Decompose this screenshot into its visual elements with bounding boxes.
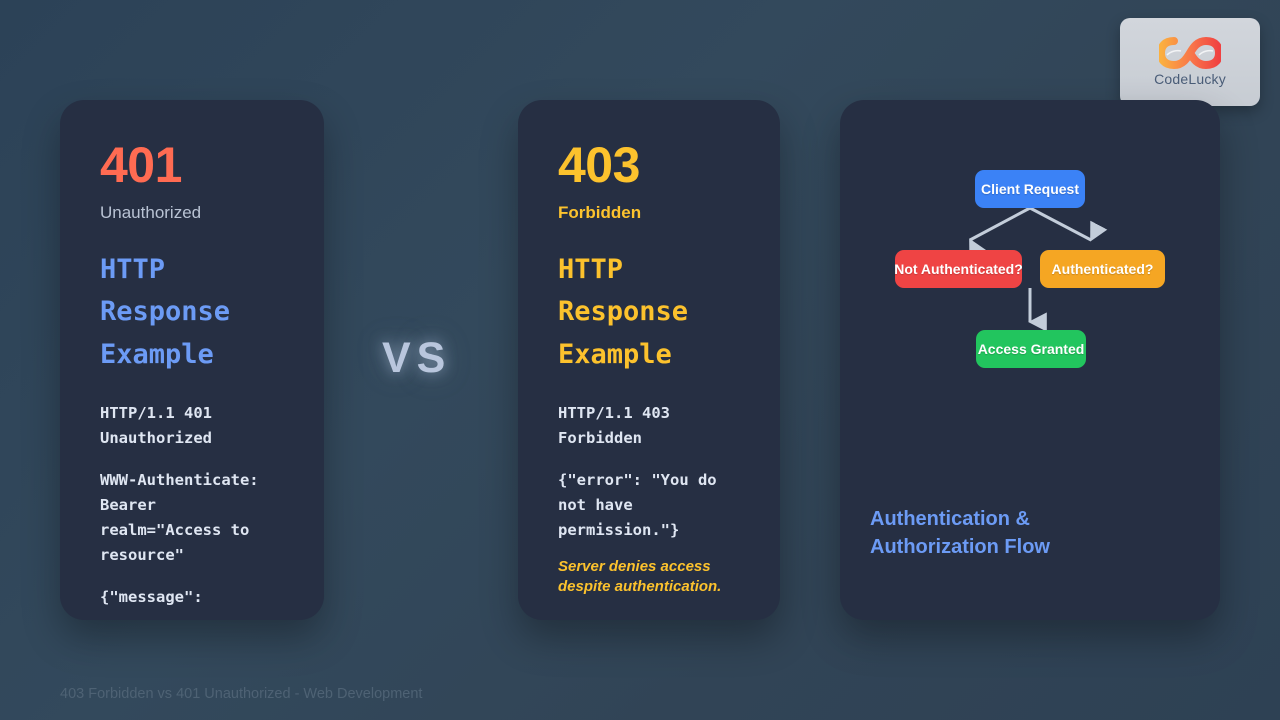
infinity-leaf-icon — [1159, 37, 1221, 69]
brand-logo-badge: CodeLucky — [1120, 18, 1260, 106]
flow-node-client-request[interactable]: Client Request — [975, 170, 1085, 208]
code-line: HTTP/1.1 403 Forbidden — [558, 401, 740, 451]
flow-node-label: Access Granted — [978, 341, 1085, 357]
code-line: WWW-Authenticate: Bearer realm="Access t… — [100, 468, 284, 568]
forbidden-note: Server denies access despite authenticat… — [558, 557, 740, 596]
code-line: HTTP/1.1 401 Unauthorized — [100, 401, 284, 451]
flow-node-not-authenticated[interactable]: Not Authenticated? — [895, 250, 1022, 288]
status-code-403: 403 — [558, 140, 740, 190]
card-heading-401: HTTP Response Example — [100, 249, 284, 377]
flow-caption: Authentication & Authorization Flow — [870, 505, 1050, 561]
card-403-forbidden: 403 Forbidden HTTP Response Example HTTP… — [518, 100, 780, 620]
card-heading-403: HTTP Response Example — [558, 249, 740, 377]
card-401-unauthorized: 401 Unauthorized HTTP Response Example H… — [60, 100, 324, 620]
footer-caption: 403 Forbidden vs 401 Unauthorized - Web … — [60, 686, 422, 702]
code-line: {"error": "You do not have permission."} — [558, 468, 740, 543]
flow-node-authenticated[interactable]: Authenticated? — [1040, 250, 1165, 288]
flow-node-label: Authenticated? — [1052, 261, 1154, 277]
code-line: {"message": — [100, 585, 284, 610]
flow-node-label: Client Request — [981, 181, 1079, 197]
status-phrase-403: Forbidden — [558, 204, 740, 223]
flow-node-label: Not Authenticated? — [894, 261, 1023, 277]
brand-name: CodeLucky — [1154, 71, 1226, 87]
versus-label: VS — [382, 334, 451, 383]
flow-node-access-granted[interactable]: Access Granted — [976, 330, 1086, 368]
card-auth-flow: Client Request Not Authenticated? Authen… — [840, 100, 1220, 620]
status-code-401: 401 — [100, 140, 284, 190]
status-phrase-401: Unauthorized — [100, 204, 284, 223]
